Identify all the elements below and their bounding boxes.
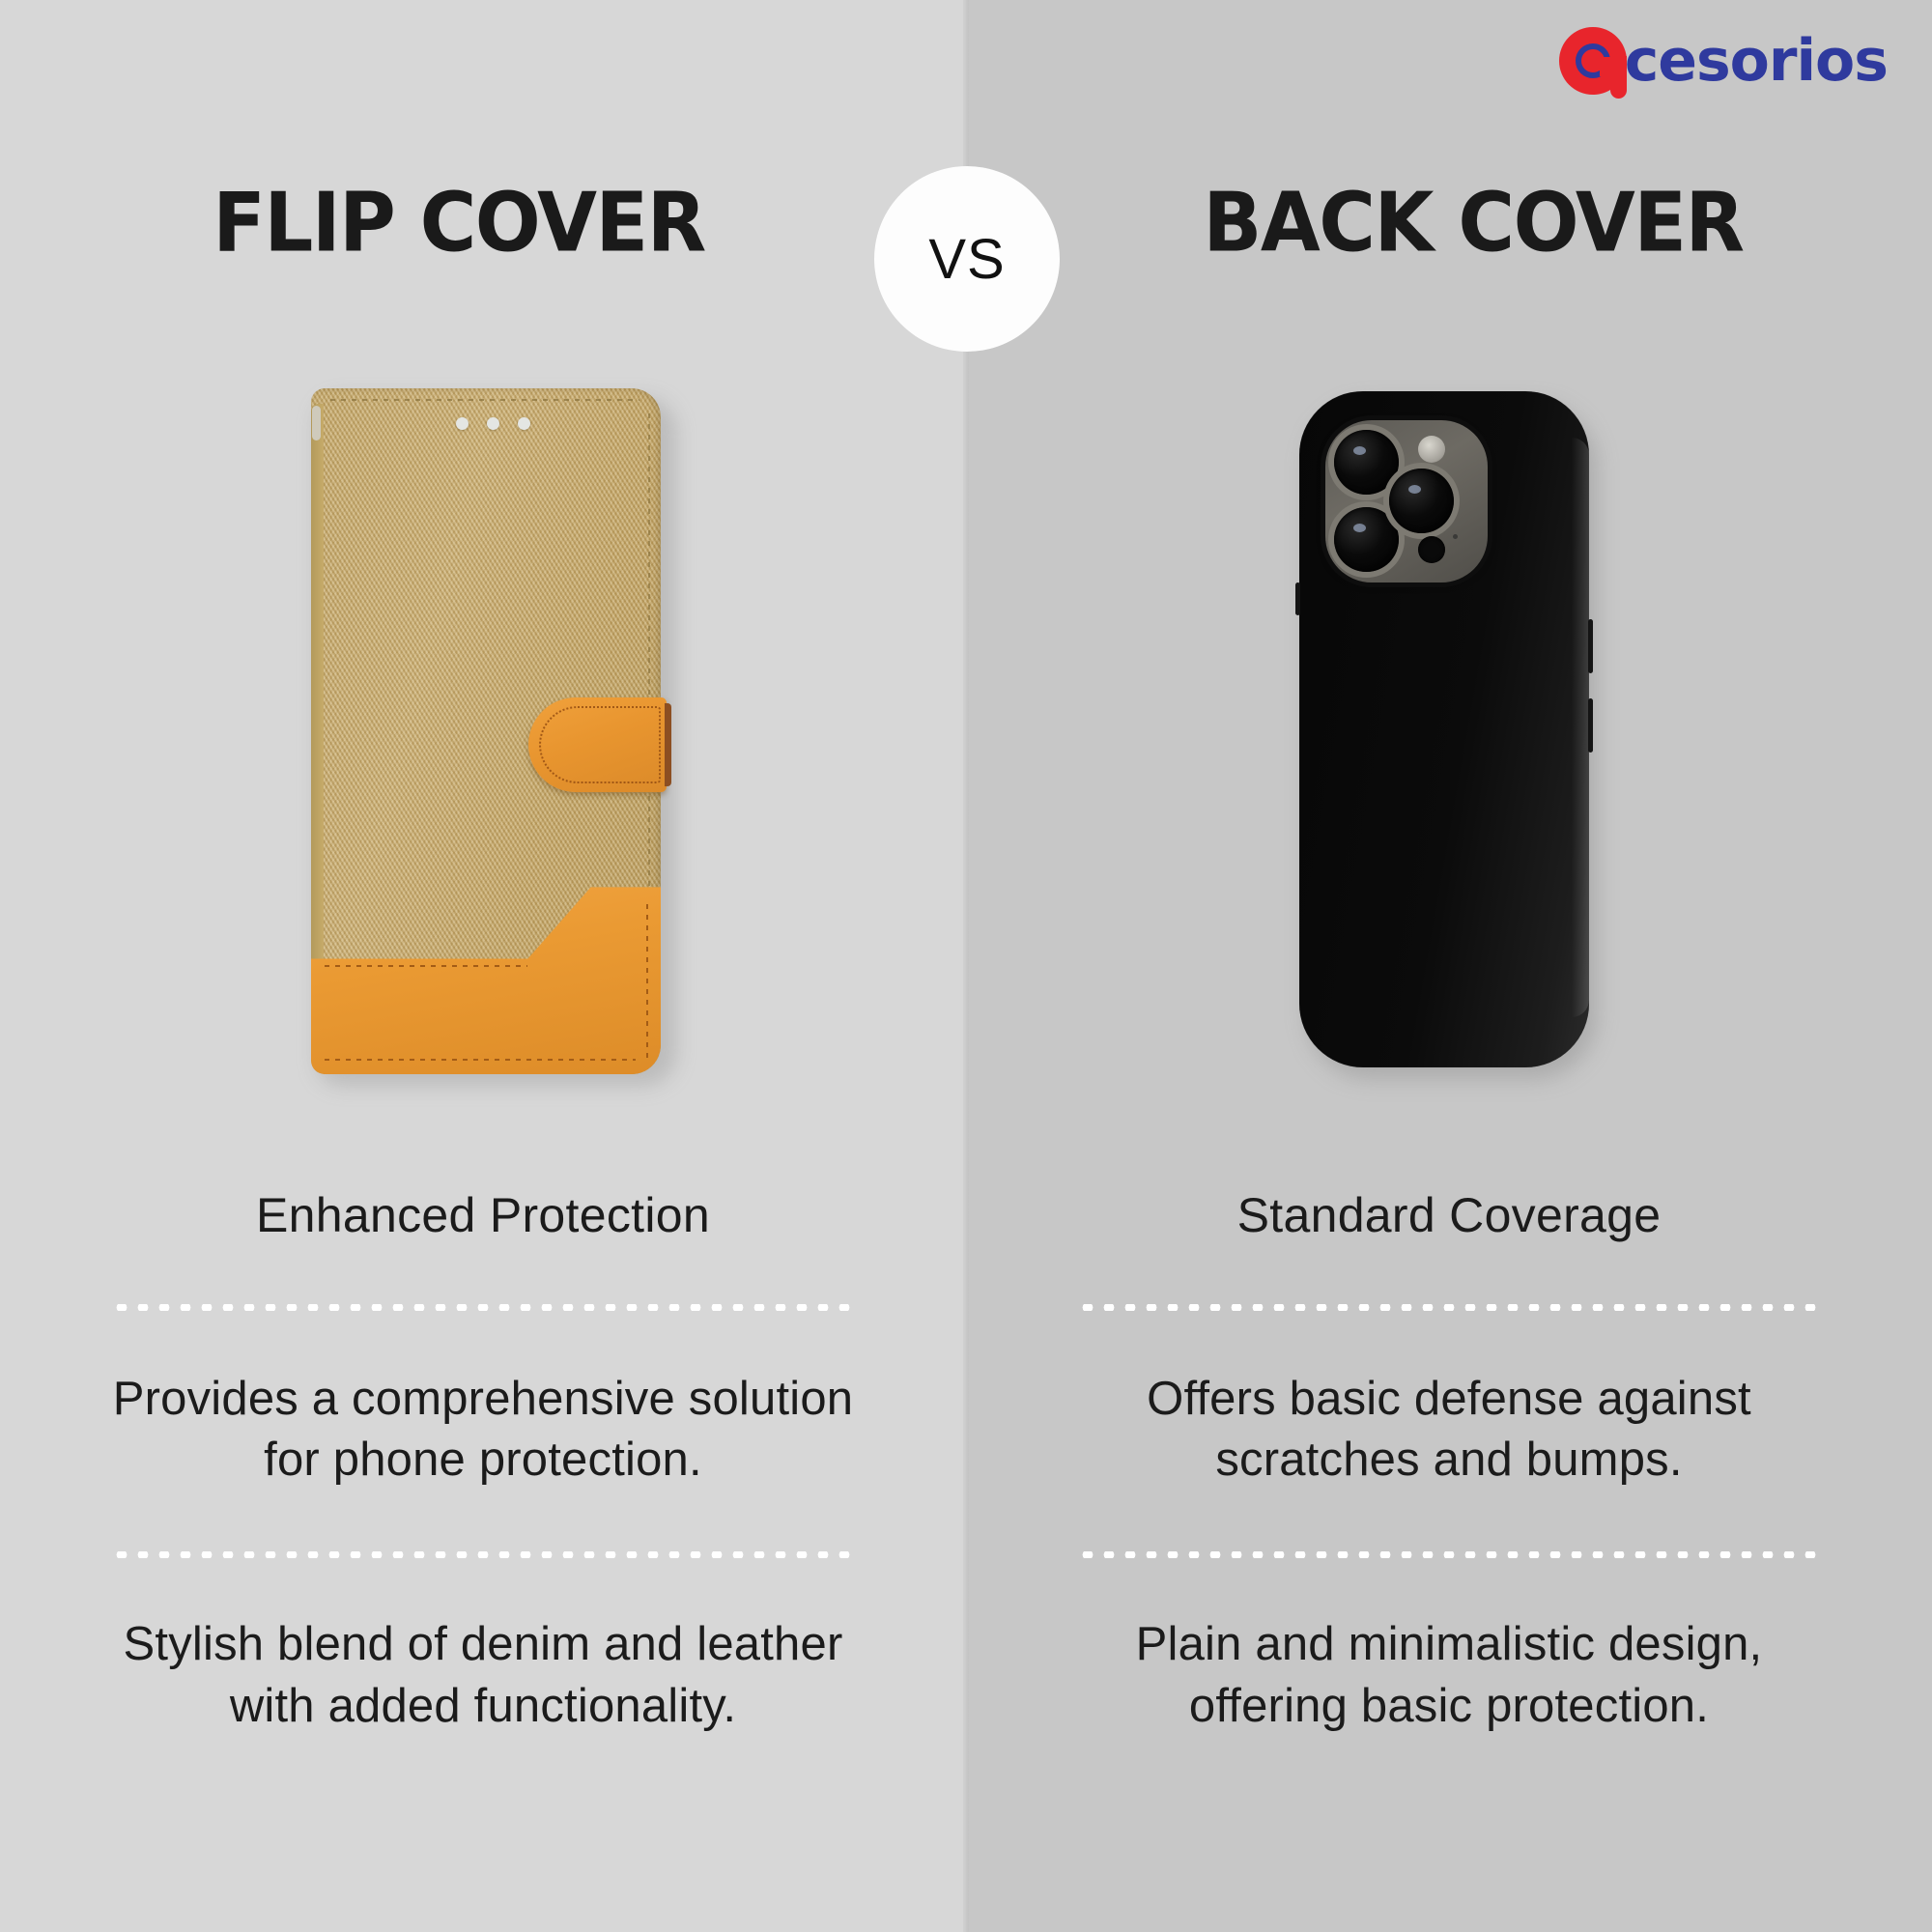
dotted-divider (1077, 1304, 1821, 1311)
volume-button-cutout (1295, 582, 1300, 615)
camera-lens-icon (1334, 507, 1399, 572)
snap-dot-icon (456, 417, 469, 430)
back-cover-photo (1299, 391, 1599, 1079)
vs-label: VS (928, 227, 1005, 292)
dotted-divider (111, 1304, 855, 1311)
flip-cover-subtitle: Enhanced Protection (29, 1188, 937, 1244)
brand-wordmark: cesorios (1625, 32, 1888, 90)
acesorios-a-mark-icon (1559, 27, 1627, 95)
flip-cover-snap-dots (456, 417, 530, 430)
flip-cover-top-stitching (330, 399, 639, 401)
power-button-cutout (1588, 619, 1593, 673)
camera-lens-icon (1389, 469, 1454, 533)
flip-cover-magnetic-clasp (528, 697, 667, 792)
back-cover-feature-1: Offers basic defense against scratches a… (995, 1369, 1903, 1492)
microphone-icon (1453, 534, 1458, 539)
flip-cover-feature-1: Provides a comprehensive solution for ph… (29, 1369, 937, 1492)
dotted-divider (111, 1551, 855, 1558)
flip-cover-feature-column: Enhanced Protection Provides a comprehen… (29, 1188, 937, 1737)
snap-dot-icon (518, 417, 530, 430)
action-button-cutout (1588, 698, 1593, 753)
vs-badge: VS (874, 166, 1060, 352)
snap-dot-icon (487, 417, 499, 430)
left-column-heading-wrap: FLIP COVER (58, 169, 860, 275)
dotted-divider (1077, 1551, 1821, 1558)
flip-cover-feature-2: Stylish blend of denim and leather with … (29, 1614, 937, 1737)
back-cover-feature-2: Plain and minimalistic design, offering … (995, 1614, 1903, 1737)
heading-back-cover: BACK COVER (1203, 175, 1743, 270)
back-cover-edge-highlight (1572, 438, 1589, 1017)
heading-flip-cover: FLIP COVER (213, 175, 705, 270)
flip-cover-spine-clip (312, 406, 321, 440)
brand-logo: cesorios (1559, 23, 1888, 99)
flip-cover-leather-stitching (311, 875, 661, 1074)
right-column-heading-wrap: BACK COVER (1072, 169, 1874, 275)
camera-module (1325, 420, 1488, 582)
lidar-sensor-icon (1418, 536, 1445, 563)
camera-flash-icon (1418, 436, 1445, 463)
back-cover-subtitle: Standard Coverage (995, 1188, 1903, 1244)
flip-cover-photo (311, 388, 670, 1082)
camera-lens-icon (1334, 430, 1399, 495)
back-cover-case-body (1299, 391, 1589, 1067)
back-cover-feature-column: Standard Coverage Offers basic defense a… (995, 1188, 1903, 1737)
